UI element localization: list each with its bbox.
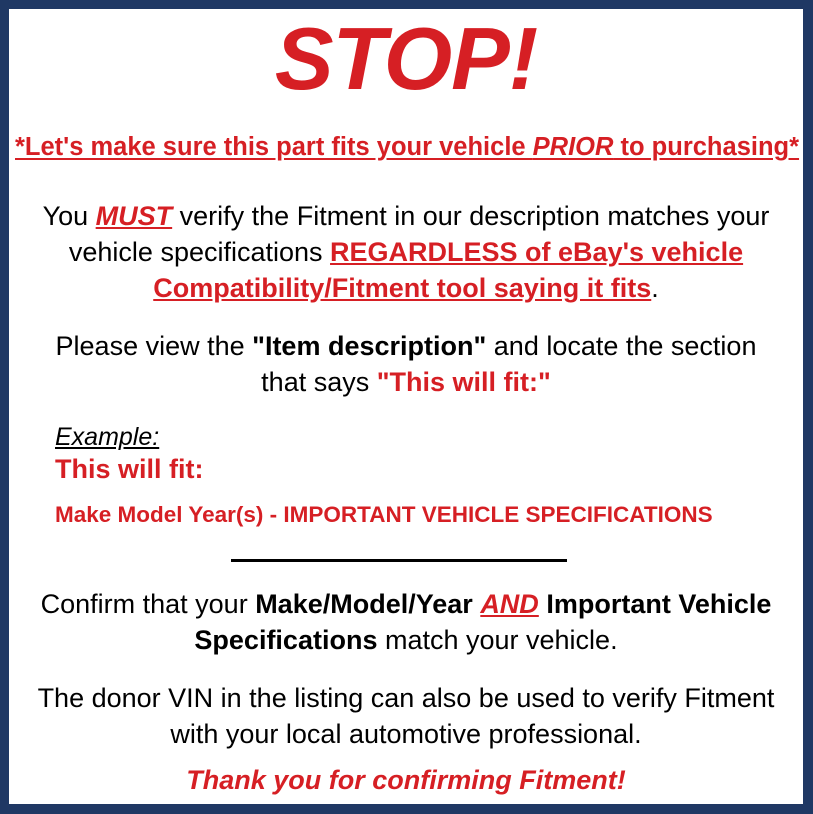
confirm-paragraph: Confirm that your Make/Model/Year AND Im… — [31, 587, 781, 659]
confirm-end-text: match your vehicle. — [377, 625, 617, 655]
fitment-notice-poster: STOP! *Let's make sure this part fits yo… — [0, 0, 813, 814]
make-model-year-label: Make/Model/Year — [255, 589, 473, 619]
example-block: Example: This will fit: — [55, 423, 204, 485]
item-description-label: "Item description" — [252, 331, 486, 361]
subtitle-prior-emphasis: PRIOR — [533, 133, 614, 161]
example-specification-line: Make Model Year(s) - IMPORTANT VEHICLE S… — [55, 502, 713, 528]
view-lead-text: Please view the — [56, 331, 253, 361]
must-end-period: . — [651, 273, 659, 303]
section-divider — [231, 559, 567, 562]
confirm-lead-text: Confirm that your — [41, 589, 256, 619]
stop-title: STOP! — [9, 13, 803, 105]
must-lead-text: You — [43, 201, 96, 231]
thank-you-line: Thank you for confirming Fitment! — [31, 764, 781, 796]
and-conjunction: AND — [480, 589, 539, 619]
subtitle-after: to purchasing* — [613, 133, 799, 161]
must-verify-paragraph: You MUST verify the Fitment in our descr… — [31, 199, 781, 307]
subtitle-before: *Let's make sure this part fits your veh… — [15, 133, 533, 161]
example-fit-heading: This will fit: — [55, 454, 204, 486]
example-label-row: Example: — [55, 423, 204, 453]
donor-vin-paragraph: The donor VIN in the listing can also be… — [31, 681, 781, 753]
notice-canvas: STOP! *Let's make sure this part fits yo… — [9, 9, 803, 804]
example-label: Example: — [55, 423, 159, 453]
must-emphasis: MUST — [96, 201, 173, 231]
view-item-description-paragraph: Please view the "Item description" and l… — [31, 329, 781, 401]
subtitle-line: *Let's make sure this part fits your veh… — [15, 133, 797, 162]
this-will-fit-label: "This will fit:" — [377, 367, 551, 397]
